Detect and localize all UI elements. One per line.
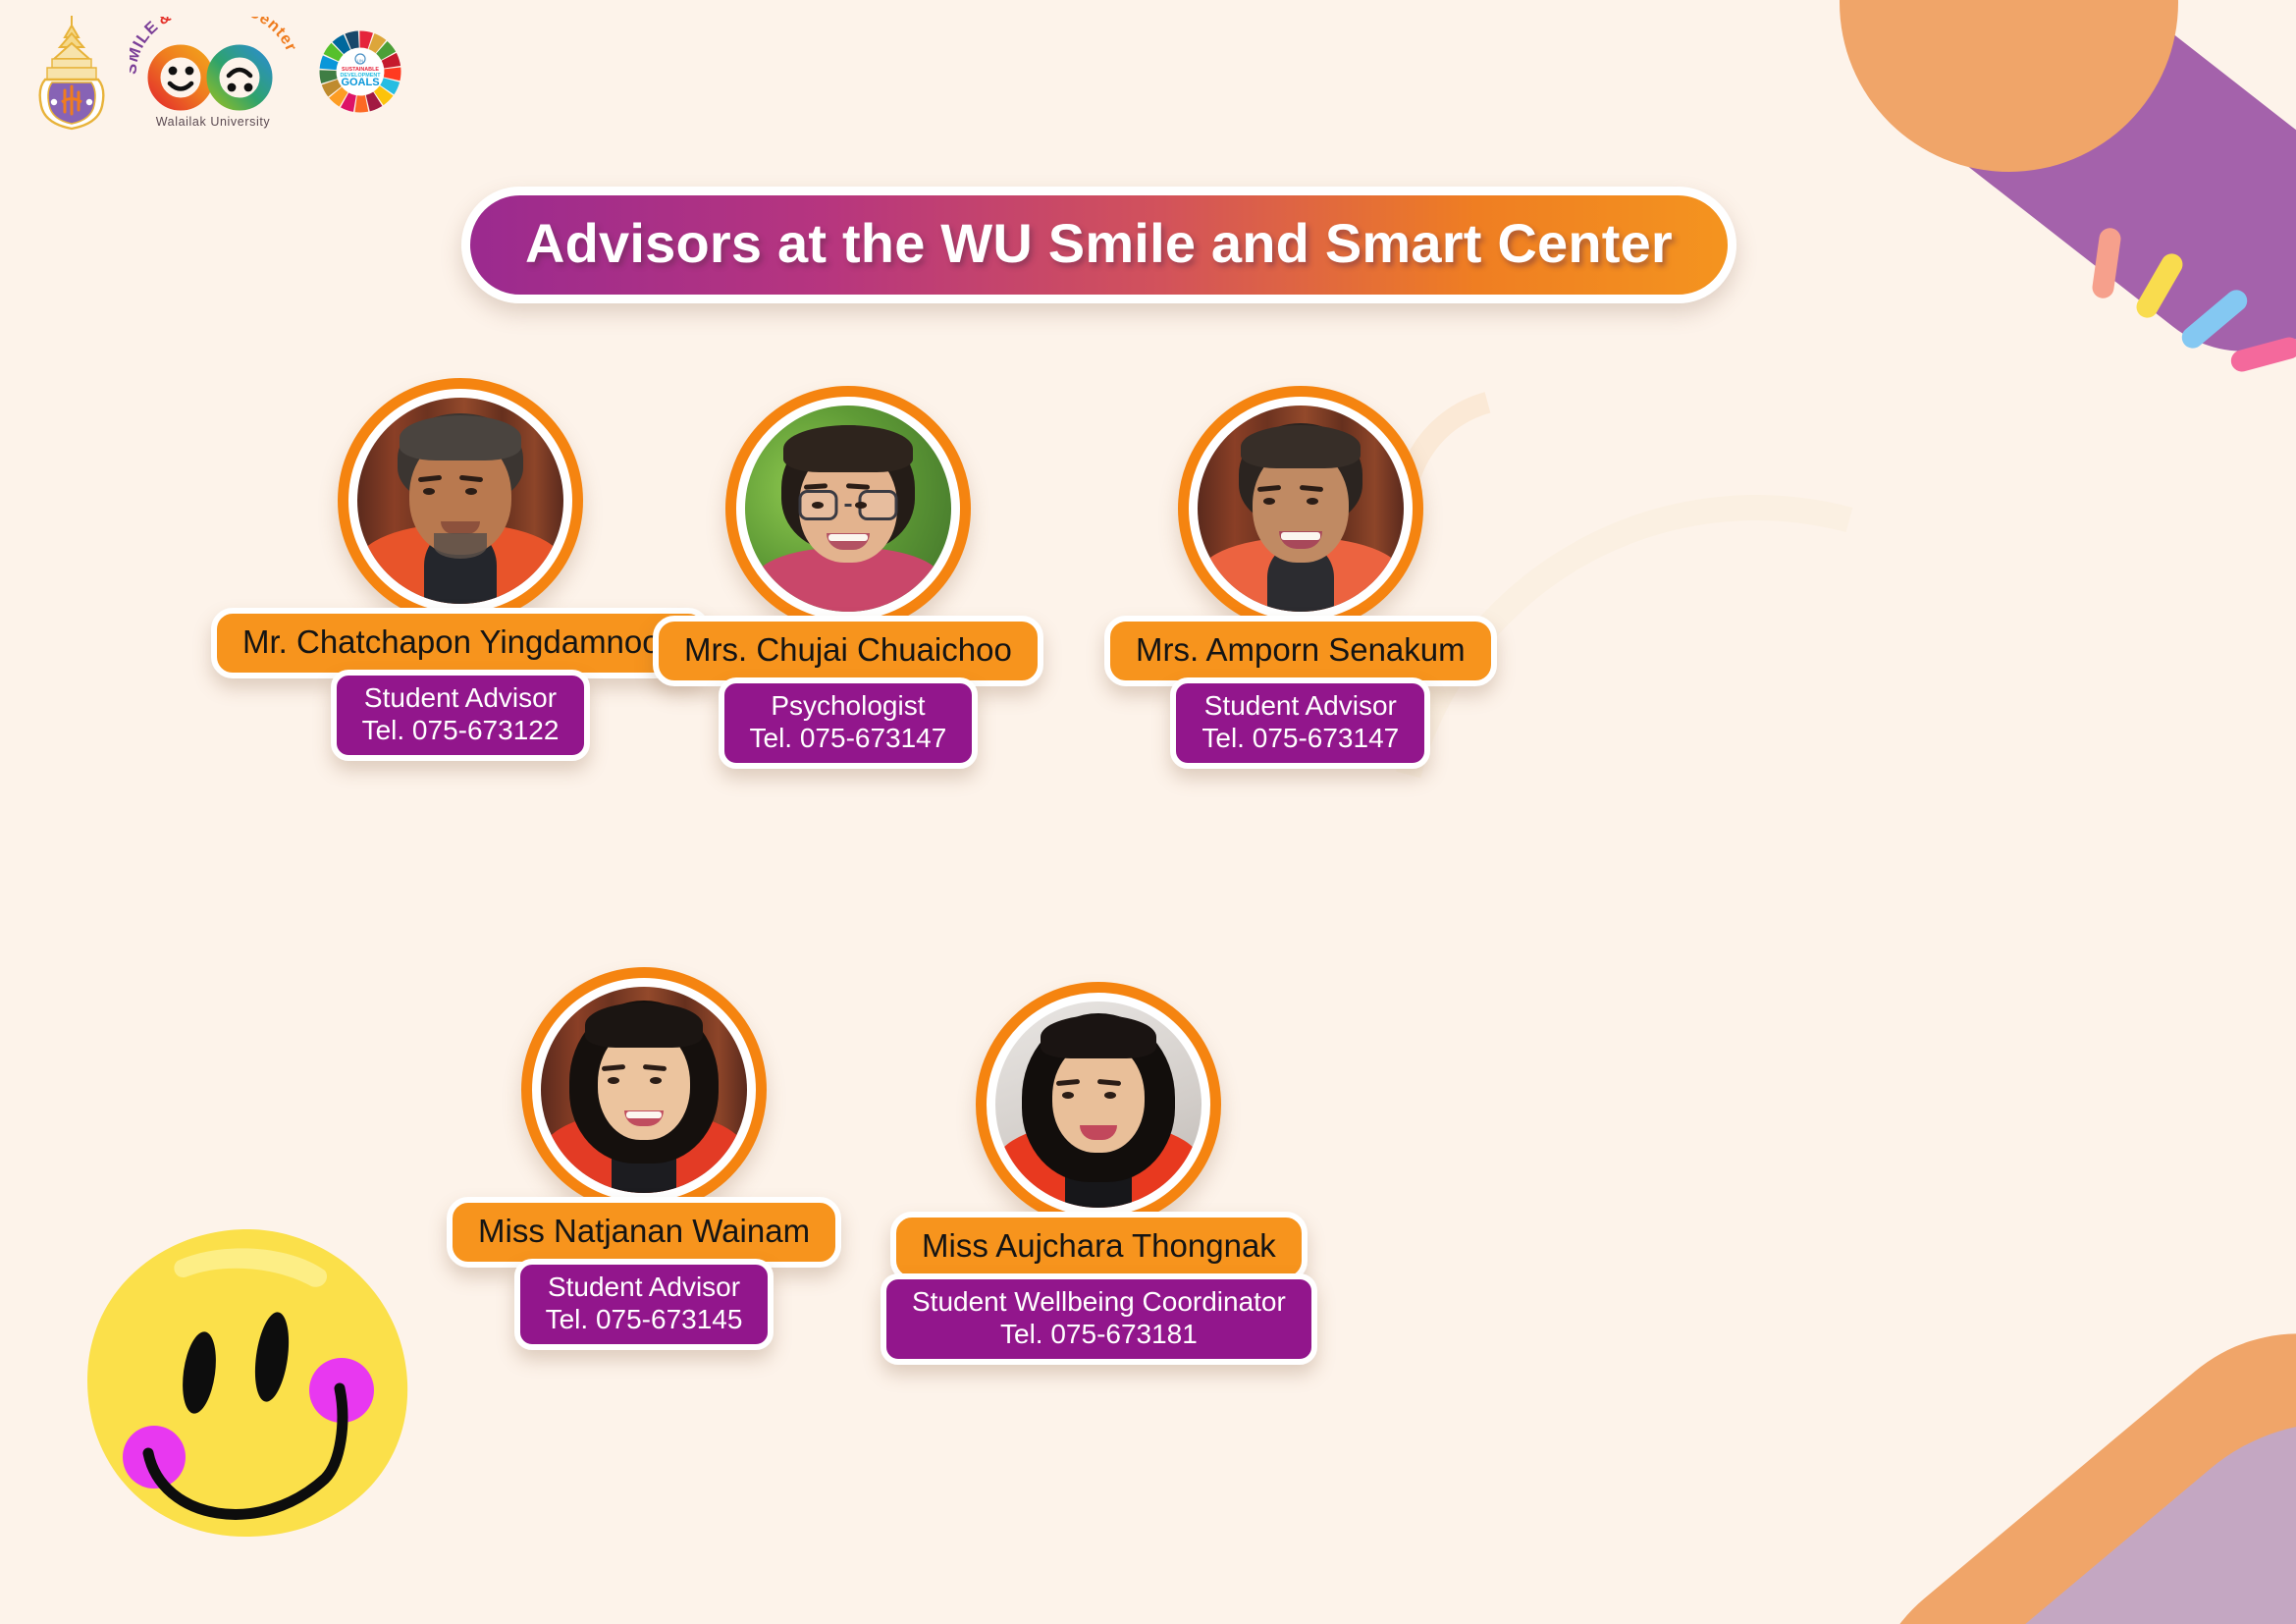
advisor-card[interactable]: Miss Aujchara Thongnak Student Wellbeing… xyxy=(881,982,1317,1365)
advisor-role: Student Advisor xyxy=(1201,689,1399,722)
walailak-university-emblem-icon xyxy=(27,12,116,132)
advisor-role: Student Advisor xyxy=(362,681,560,714)
avatar-ring xyxy=(725,386,971,631)
advisor-role-block: Psychologist Tel. 075-673147 xyxy=(719,677,979,769)
avatar-ring xyxy=(338,378,583,623)
advisor-phone: Tel. 075-673145 xyxy=(546,1303,743,1335)
smiley-face-mascot-icon xyxy=(83,1225,412,1540)
avatar xyxy=(745,406,951,612)
advisor-role: Psychologist xyxy=(750,689,947,722)
advisor-role-block: Student Advisor Tel. 075-673145 xyxy=(514,1259,774,1350)
avatar-ring xyxy=(1178,386,1423,631)
smile-smart-center-logo-icon: SMILE & SMART Center Walailak University xyxy=(130,17,296,127)
advisor-role: Student Advisor xyxy=(546,1271,743,1303)
advisor-phone: Tel. 075-673147 xyxy=(1201,722,1399,754)
svg-text:UN: UN xyxy=(357,59,363,64)
avatar-ring xyxy=(521,967,767,1213)
avatar-ring xyxy=(976,982,1221,1227)
advisor-name: Miss Aujchara Thongnak xyxy=(890,1212,1308,1282)
advisor-role-block: Student Wellbeing Coordinator Tel. 075-6… xyxy=(881,1273,1317,1365)
advisor-phone: Tel. 075-673181 xyxy=(912,1318,1286,1350)
page-title: Advisors at the WU Smile and Smart Cente… xyxy=(525,211,1673,275)
advisor-card[interactable]: Mr. Chatchapon Yingdamnoon Student Advis… xyxy=(211,378,710,761)
logo-bar: SMILE & SMART Center Walailak University xyxy=(27,12,410,132)
avatar xyxy=(995,1001,1201,1208)
advisor-name: Mr. Chatchapon Yingdamnoon xyxy=(211,608,710,678)
avatar xyxy=(1198,406,1404,612)
advisor-role-block: Student Advisor Tel. 075-673122 xyxy=(331,670,591,761)
page-title-wrapper: Advisors at the WU Smile and Smart Cente… xyxy=(461,187,1736,303)
advisor-card[interactable]: Mrs. Amporn Senakum Student Advisor Tel.… xyxy=(1104,386,1497,769)
advisor-name: Miss Natjanan Wainam xyxy=(447,1197,841,1268)
advisor-role: Student Wellbeing Coordinator xyxy=(912,1285,1286,1318)
advisor-phone: Tel. 075-673147 xyxy=(750,722,947,754)
advisor-name: Mrs. Amporn Senakum xyxy=(1104,616,1497,686)
smile-smart-center-caption: Walailak University xyxy=(130,115,296,129)
advisor-card[interactable]: Miss Natjanan Wainam Student Advisor Tel… xyxy=(447,967,841,1350)
advisor-role-block: Student Advisor Tel. 075-673147 xyxy=(1170,677,1430,769)
advisor-phone: Tel. 075-673122 xyxy=(362,714,560,746)
avatar xyxy=(357,398,563,604)
advisor-card[interactable]: Mrs. Chujai Chuaichoo Psychologist Tel. … xyxy=(653,386,1043,769)
title-banner: Advisors at the WU Smile and Smart Cente… xyxy=(461,187,1736,303)
advisor-name: Mrs. Chujai Chuaichoo xyxy=(653,616,1043,686)
svg-text:GOALS: GOALS xyxy=(341,77,379,88)
sdg-wheel-logo-icon: UN SUSTAINABLE DEVELOPMENT GOALS xyxy=(310,22,410,122)
svg-text:SUSTAINABLE: SUSTAINABLE xyxy=(342,67,379,73)
avatar xyxy=(541,987,747,1193)
